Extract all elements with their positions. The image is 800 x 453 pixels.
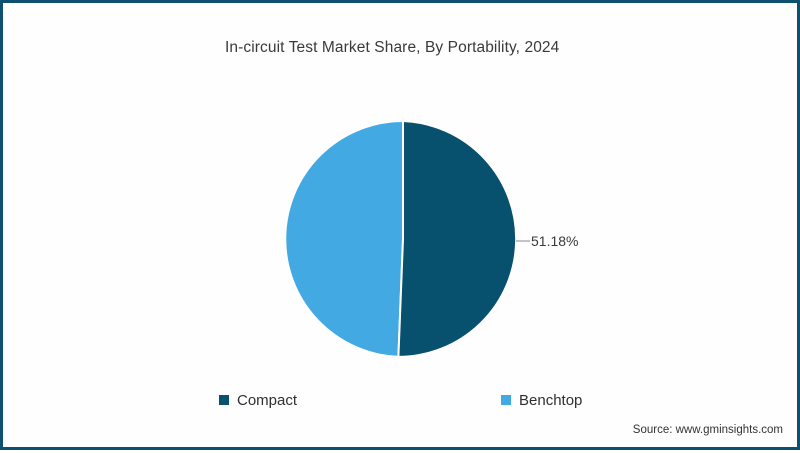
chart-frame: In-circuit Test Market Share, By Portabi… <box>0 0 800 450</box>
pie-label-compact: 51.18% <box>531 233 578 249</box>
chart-legend: Compact Benchtop <box>3 390 800 414</box>
legend-swatch-icon-compact <box>219 395 229 405</box>
legend-item-compact[interactable]: Compact <box>219 390 297 410</box>
pie-chart: 51.18% <box>3 3 800 453</box>
pie-slice-compact[interactable] <box>398 121 516 357</box>
legend-label-compact: Compact <box>237 392 297 409</box>
source-attribution: Source: www.gminsights.com <box>633 424 783 436</box>
legend-label-benchtop: Benchtop <box>519 392 582 409</box>
pie-slice-benchtop[interactable] <box>285 121 403 357</box>
legend-swatch-icon-benchtop <box>501 395 511 405</box>
pie-svg <box>3 3 800 453</box>
legend-item-benchtop[interactable]: Benchtop <box>501 390 582 410</box>
